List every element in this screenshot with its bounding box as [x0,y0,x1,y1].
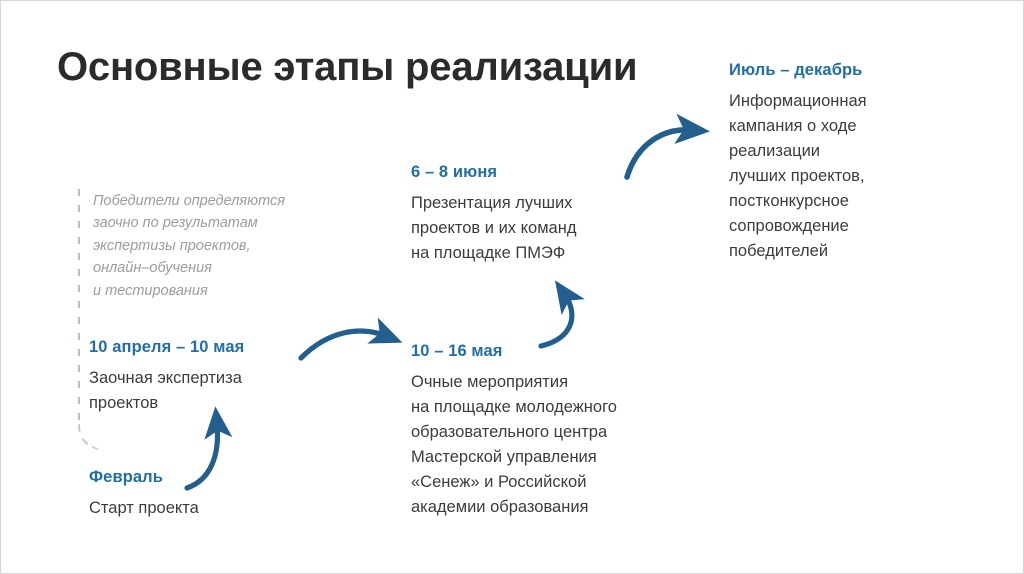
milestone-may-heading: 10 – 16 мая [411,342,617,361]
arrow-june-to-juldec [627,130,691,177]
arrow-may-to-june [541,295,572,346]
milestone-may-body: Очные мероприятия на площадке молодежног… [411,370,617,520]
page-title: Основные этапы реализации [57,45,637,90]
slide-canvas: Основные этапы реализации [0,0,1024,574]
milestone-july-december-heading: Июль – декабрь [729,61,867,80]
milestone-february-body: Старт проекта [89,496,199,521]
milestone-april-may-heading: 10 апреля – 10 мая [89,338,244,357]
milestone-february: Февраль Старт проекта [89,468,199,521]
milestone-april-may: 10 апреля – 10 мая Заочная экспертиза пр… [89,338,244,416]
milestone-february-heading: Февраль [89,468,199,487]
milestone-may: 10 – 16 мая Очные мероприятия на площадк… [411,342,617,520]
milestone-june: 6 – 8 июня Презентация лучших проектов и… [411,163,576,266]
milestone-july-december: Июль – декабрь Информационная кампания о… [729,61,867,265]
milestone-april-may-body: Заочная экспертиза проектов [89,366,244,416]
note-winners-selection: Победители определяются заочно по резуль… [93,190,285,302]
milestone-june-body: Презентация лучших проектов и их команд … [411,191,576,266]
milestone-june-heading: 6 – 8 июня [411,163,576,182]
arrow-april-to-may [301,331,386,358]
milestone-july-december-body: Информационная кампания о ходе реализаци… [729,89,867,265]
